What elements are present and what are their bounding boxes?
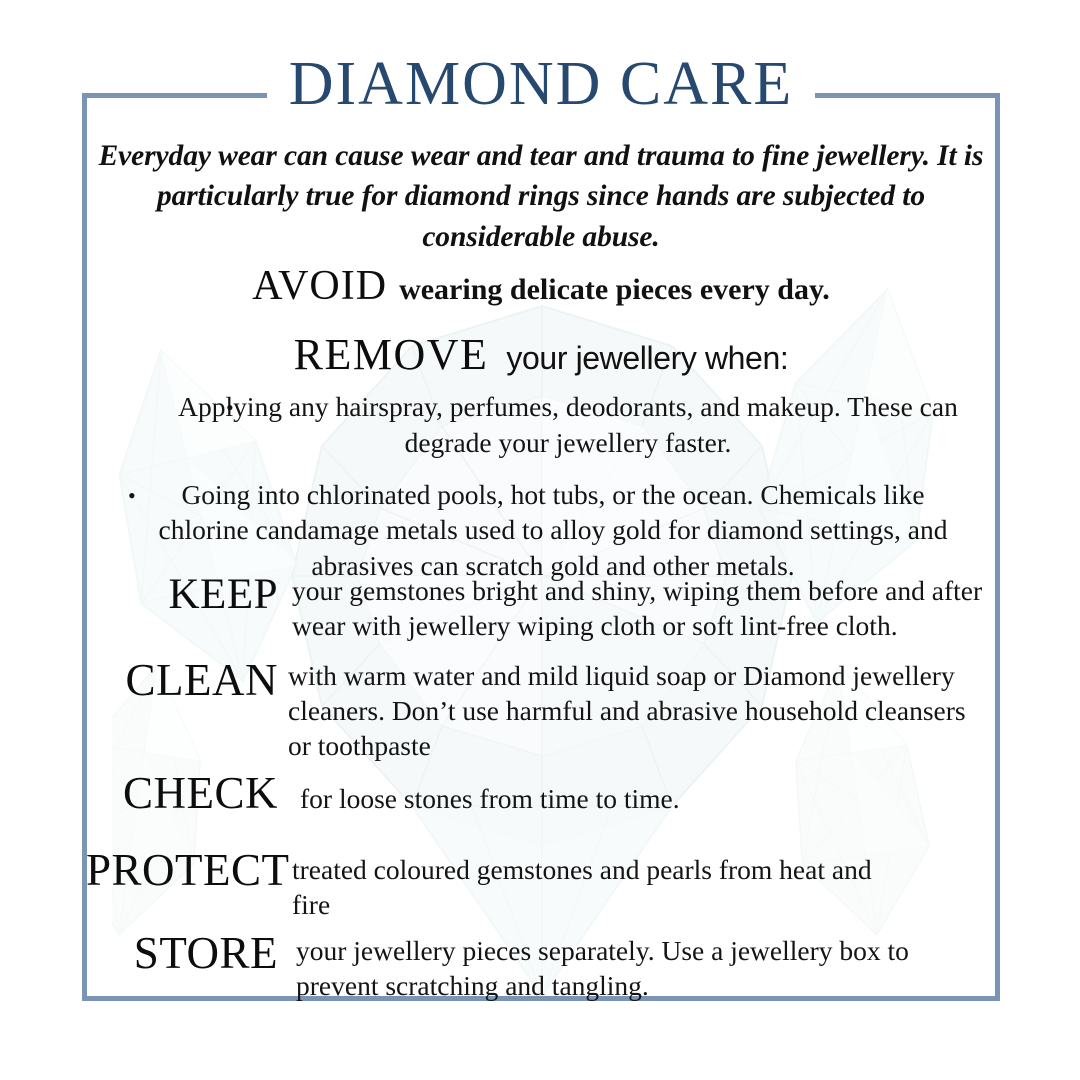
poster-content: DIAMOND CARE Everyday wear can cause wea…	[86, 93, 996, 1001]
list-item: •Applying any hairspray, perfumes, deodo…	[114, 389, 974, 461]
remove-row: REMOVEyour jewellery when:	[86, 329, 996, 380]
tip-row-check: CHECK for loose stones from time to time…	[86, 771, 996, 816]
tip-body-store: your jewellery pieces separately. Use a …	[278, 931, 996, 1003]
avoid-keyword: AVOID	[252, 263, 387, 309]
remove-bullet-list: •Applying any hairspray, perfumes, deodo…	[114, 389, 974, 584]
tip-keyword-protect: PROTECT	[86, 848, 278, 893]
tip-row-protect: PROTECT treated coloured gemstones and p…	[86, 848, 996, 922]
intro-paragraph: Everyday wear can cause wear and tear an…	[98, 136, 984, 257]
list-item-text: Going into chlorinated pools, hot tubs, …	[159, 479, 948, 582]
remove-keyword: REMOVE	[294, 330, 489, 379]
tip-body-keep: your gemstones bright and shiny, wiping …	[278, 573, 996, 643]
tip-row-store: STORE your jewellery pieces separately. …	[86, 931, 996, 1003]
tip-body-check: for loose stones from time to time.	[278, 771, 996, 816]
diamond-care-poster: DIAMOND CARE Everyday wear can cause wea…	[0, 0, 1080, 1080]
tip-keyword-clean: CLEAN	[86, 658, 278, 703]
tip-keyword-keep: KEEP	[86, 573, 278, 616]
avoid-row: AVOIDwearing delicate pieces every day.	[86, 262, 996, 310]
tip-row-clean: CLEAN with warm water and mild liquid so…	[86, 658, 996, 764]
list-item: •Going into chlorinated pools, hot tubs,…	[114, 477, 974, 584]
bullet-dot-icon: •	[226, 397, 234, 419]
page-title-text: DIAMOND CARE	[267, 53, 816, 115]
remove-body: your jewellery when:	[506, 340, 788, 376]
tip-row-keep: KEEP your gemstones bright and shiny, wi…	[86, 573, 996, 643]
page-title: DIAMOND CARE	[86, 53, 996, 115]
tip-keyword-store: STORE	[86, 931, 278, 976]
tip-keyword-check: CHECK	[86, 771, 278, 816]
list-item-text: Applying any hairspray, perfumes, deodor…	[178, 391, 958, 458]
tip-body-protect: treated coloured gemstones and pearls fr…	[278, 848, 996, 922]
bullet-dot-icon: •	[128, 485, 136, 507]
tip-body-clean: with warm water and mild liquid soap or …	[278, 658, 996, 764]
avoid-body: wearing delicate pieces every day.	[399, 273, 830, 306]
